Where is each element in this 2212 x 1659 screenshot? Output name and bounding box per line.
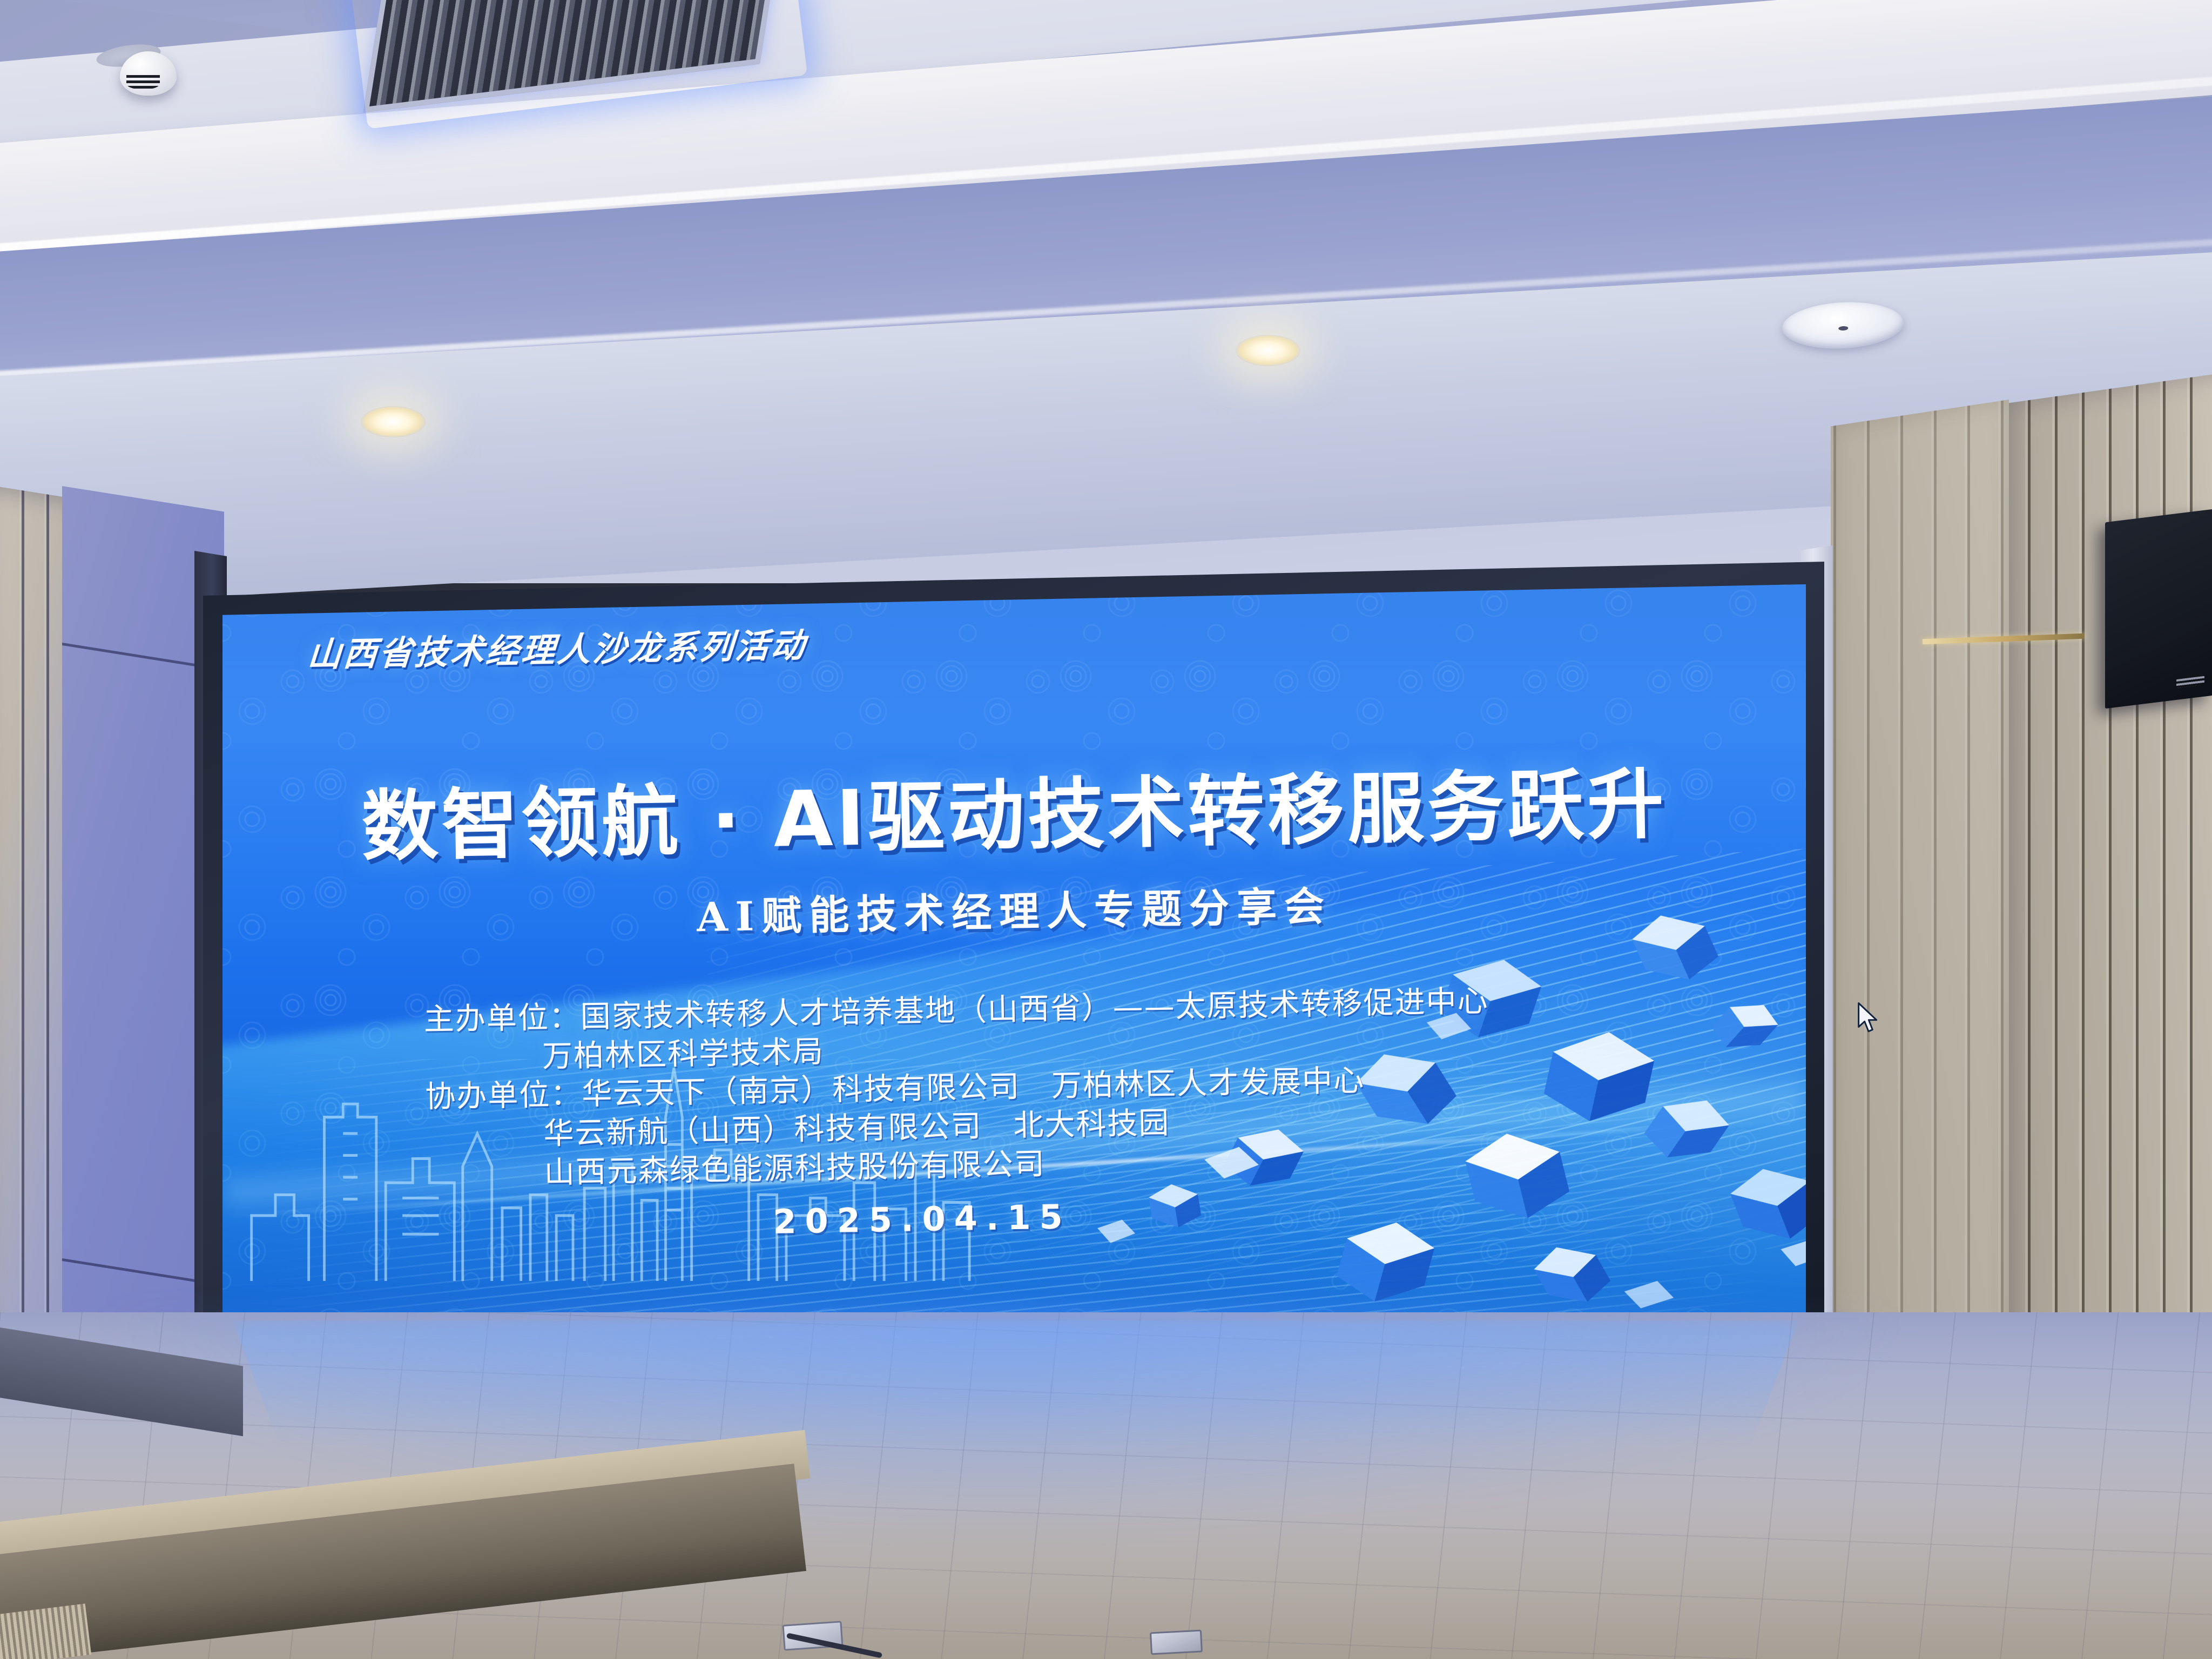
floor-socket-box-icon-2	[1150, 1630, 1203, 1655]
event-series-kicker: 山西省技术经理人沙龙系列活动	[306, 618, 808, 676]
event-date: 2025.04.15	[427, 1188, 1605, 1247]
downlight-icon-left	[361, 406, 426, 437]
speaker-brand-plate	[2176, 676, 2204, 688]
mouse-pointer-arrow-icon	[1857, 1002, 1880, 1034]
floor-vent-icon	[0, 1603, 91, 1659]
led-screen[interactable]: 山西省技术经理人沙龙系列活动 数智领航 · AI驱动技术转移服务跃升 AI赋能技…	[222, 584, 1806, 1350]
wall-speaker-icon	[2105, 509, 2212, 709]
main-title: 数智领航 · AI驱动技术转移服务跃升	[361, 741, 1668, 875]
subtitle: AI赋能技术经理人专题分享会	[696, 874, 1332, 943]
right-wall-mid-panel	[1831, 400, 2009, 1387]
screen-text-layer: 山西省技术经理人沙龙系列活动 数智领航 · AI驱动技术转移服务跃升 AI赋能技…	[222, 584, 1806, 1350]
floor-screen-reflection	[232, 1320, 1798, 1445]
organizer-block: 主办单位：国家技术转移人才培养基地（山西省）——太原技术转移促进中心 万柏林区科…	[423, 980, 1605, 1247]
scene-root: 山西省技术经理人沙龙系列活动 数智领航 · AI驱动技术转移服务跃升 AI赋能技…	[0, 0, 2212, 1659]
downlight-icon-center	[1236, 335, 1300, 366]
right-wall-mid-slats	[1831, 400, 2009, 1387]
